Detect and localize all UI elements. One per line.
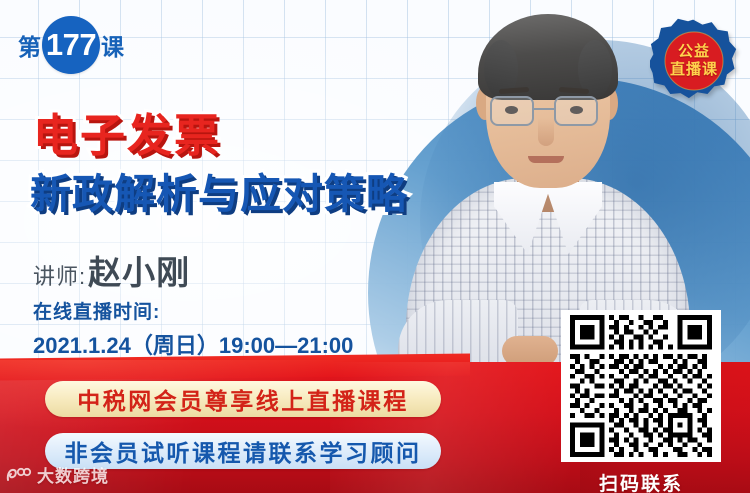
badge-line2: 直播课: [670, 61, 718, 79]
watermark: 大数跨境: [6, 462, 109, 487]
watermark-text: 大数跨境: [37, 462, 109, 487]
lesson-number: 第 177 课: [18, 16, 124, 74]
lesson-prefix: 第: [18, 28, 41, 62]
status-badge: 公益 直播课: [650, 17, 738, 105]
portrait-hands: [502, 336, 558, 365]
portrait-glasses-lens-left: [490, 96, 534, 126]
portrait-glasses-bridge: [534, 108, 554, 110]
lecturer-name: 赵小刚: [88, 246, 190, 294]
qr-code-icon[interactable]: [561, 310, 721, 462]
portrait-nose: [538, 118, 554, 146]
lesson-suffix: 课: [101, 28, 124, 62]
page-title-line2: 新政解析与应对策略: [30, 160, 408, 220]
portrait-hair: [478, 14, 618, 100]
lesson-number-circle: 177: [42, 16, 100, 74]
portrait-glasses-lens-right: [554, 96, 598, 126]
qr-section: 扫码联系: [561, 310, 721, 493]
page-title-line1: 电子发票: [33, 99, 221, 164]
portrait-mouth: [528, 156, 564, 163]
infinity-bird-logo-icon: [6, 465, 32, 485]
lecturer-label: 讲师:: [33, 259, 86, 291]
poster-root: 第 177 课 电子发票 新政解析与应对策略 讲师: 赵小刚 在线直播时间: 2…: [0, 0, 750, 493]
schedule-label: 在线直播时间:: [33, 297, 353, 324]
qr-caption: 扫码联系: [561, 469, 721, 493]
schedule-info: 在线直播时间: 2021.1.24（周日）19:00—21:00: [33, 297, 353, 360]
lecturer-info: 讲师: 赵小刚: [33, 246, 190, 294]
badge-line1: 公益: [678, 43, 710, 61]
member-notice-pill[interactable]: 中税网会员尊享线上直播课程: [45, 381, 441, 417]
